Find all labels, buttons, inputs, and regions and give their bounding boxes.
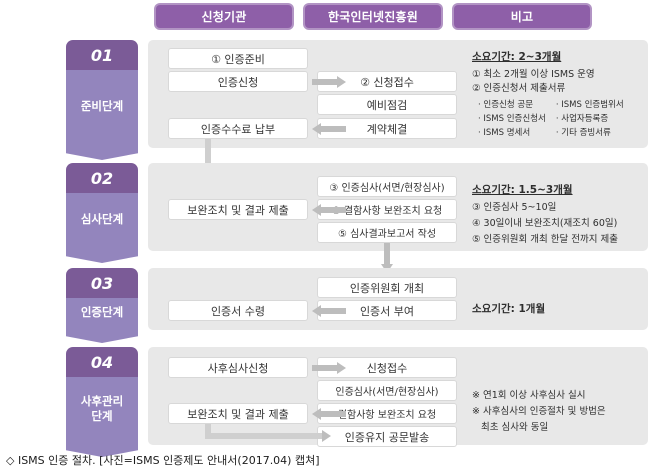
stage-02-note-3: ⑤ 인증위원회 개최 한달 전까지 제출 — [472, 233, 648, 247]
stage-03-name: 인증단계 — [66, 298, 138, 326]
stage-02-box-corrective-action: 보완조치 및 결과 제출 — [168, 199, 308, 220]
figure-caption: ◇ ISMS 인증 절차. [사진=ISMS 인증제도 안내서(2017.04)… — [6, 452, 320, 468]
stage-01-doc-column-left: · 인증신청 공문 · ISMS 인증신청서 · ISMS 명세서 — [478, 99, 546, 140]
stage-01-box-fee-payment: 인증수수료 납부 — [168, 118, 308, 139]
stage-04-box-audit: 인증심사(서면/현장심사) — [317, 380, 457, 401]
stage-03-box-committee: 인증위원회 개최 — [317, 277, 457, 298]
stage-01-name: 준비단계 — [66, 70, 138, 143]
stage-04-name: 사후관리 단계 — [66, 377, 138, 440]
stage-02-badge-tail — [66, 246, 138, 263]
stage-01-box-preliminary-check: 예비점검 — [317, 94, 457, 115]
stage-02-box-audit-report: ⑤ 심사결과보고서 작성 — [317, 222, 457, 243]
stage-02-name: 심사단계 — [66, 193, 138, 246]
column-header-remarks-label: 비고 — [454, 5, 590, 28]
stage-01-doc-1: · 인증신청 공문 — [478, 99, 546, 111]
stage-04-note-2: ※ 사후심사의 인증절차 및 방법은 — [472, 405, 648, 419]
stage-01-submission-documents: · 인증신청 공문 · ISMS 인증신청서 · ISMS 명세서 · ISMS… — [472, 99, 644, 140]
stage-04-number: 04 — [66, 347, 138, 377]
stage-01-notes: 소요기간: 2~3개월 ① 최소 2개월 이상 ISMS 운영 ② 인증신청서 … — [472, 50, 644, 140]
stage-01-number: 01 — [66, 40, 138, 70]
column-header-remarks: 비고 — [452, 3, 592, 30]
arrow-defect-to-corrective-followup — [312, 408, 346, 420]
stage-03-notes: 소요기간: 1개월 — [472, 302, 648, 320]
stage-01-note-1: ① 최소 2개월 이상 ISMS 운영 — [472, 68, 644, 82]
stage-01-notes-title: 소요기간: 2~3개월 — [472, 50, 644, 65]
stage-01-doc-4: · ISMS 인증범위서 — [556, 99, 624, 111]
arrow-followup-to-receipt — [312, 362, 346, 374]
stage-04-note-1: ※ 연1회 이상 사후심사 실시 — [472, 389, 648, 403]
stage-01-box-prepare: ① 인증준비 — [168, 48, 308, 69]
stage-02-box-audit: ③ 인증심사(서면/현장심사) — [317, 176, 457, 197]
stage-03-badge-tail — [66, 326, 138, 343]
arrow-grant-to-receive — [312, 305, 346, 317]
stage-04-note-2-continuation: 최초 심사와 동일 — [472, 421, 648, 435]
stage-02-notes: 소요기간: 1.5~3개월 ③ 인증심사 5~10일 ④ 30일이내 보완조치(… — [472, 183, 648, 249]
stage-01-badge-tail — [66, 143, 138, 160]
connector-corrective-to-maintenance — [205, 424, 350, 450]
arrow-defect-to-corrective — [312, 204, 346, 216]
stage-02-number: 02 — [66, 163, 138, 193]
stage-03-box-receive-certificate: 인증서 수령 — [168, 300, 308, 321]
stage-02-note-2: ④ 30일이내 보완조치(재조치 60일) — [472, 217, 648, 231]
stage-02-notes-title: 소요기간: 1.5~3개월 — [472, 183, 648, 198]
stage-02-note-1: ③ 인증심사 5~10일 — [472, 201, 648, 215]
arrow-apply-to-receipt — [312, 76, 346, 88]
stage-01-doc-5: · 사업자등록증 — [556, 113, 624, 125]
column-header-kisa-label: 한국인터넷진흥원 — [305, 5, 441, 28]
column-header-applicant-label: 신청기관 — [156, 5, 292, 28]
stage-01-doc-3: · ISMS 명세서 — [478, 127, 546, 139]
stage-01-doc-column-right: · ISMS 인증범위서 · 사업자등록증 · 기타 증빙서류 — [556, 99, 624, 140]
stage-04-box-followup-application: 사후심사신청 — [168, 357, 308, 378]
stage-01-doc-2: · ISMS 인증신청서 — [478, 113, 546, 125]
stage-01-doc-6: · 기타 증빙서류 — [556, 127, 624, 139]
column-headers: 신청기관 한국인터넷진흥원 비고 — [0, 0, 658, 36]
stage-04-notes: ※ 연1회 이상 사후심사 실시 ※ 사후심사의 인증절차 및 방법은 최초 심… — [472, 389, 648, 436]
stage-01-note-2: ② 인증신청서 제출서류 — [472, 82, 644, 96]
arrow-contract-to-fee — [312, 123, 346, 135]
stage-01-box-apply: 인증신청 — [168, 71, 308, 92]
isms-certification-process-diagram: 신청기관 한국인터넷진흥원 비고 01 준비단계 ① 인증준비 인증신청 인증수… — [0, 0, 658, 474]
stage-03-notes-title: 소요기간: 1개월 — [472, 302, 648, 317]
stage-04-box-corrective-action: 보완조치 및 결과 제출 — [168, 403, 308, 424]
column-header-kisa: 한국인터넷진흥원 — [303, 3, 443, 30]
column-header-applicant: 신청기관 — [154, 3, 294, 30]
stage-03-number: 03 — [66, 268, 138, 298]
